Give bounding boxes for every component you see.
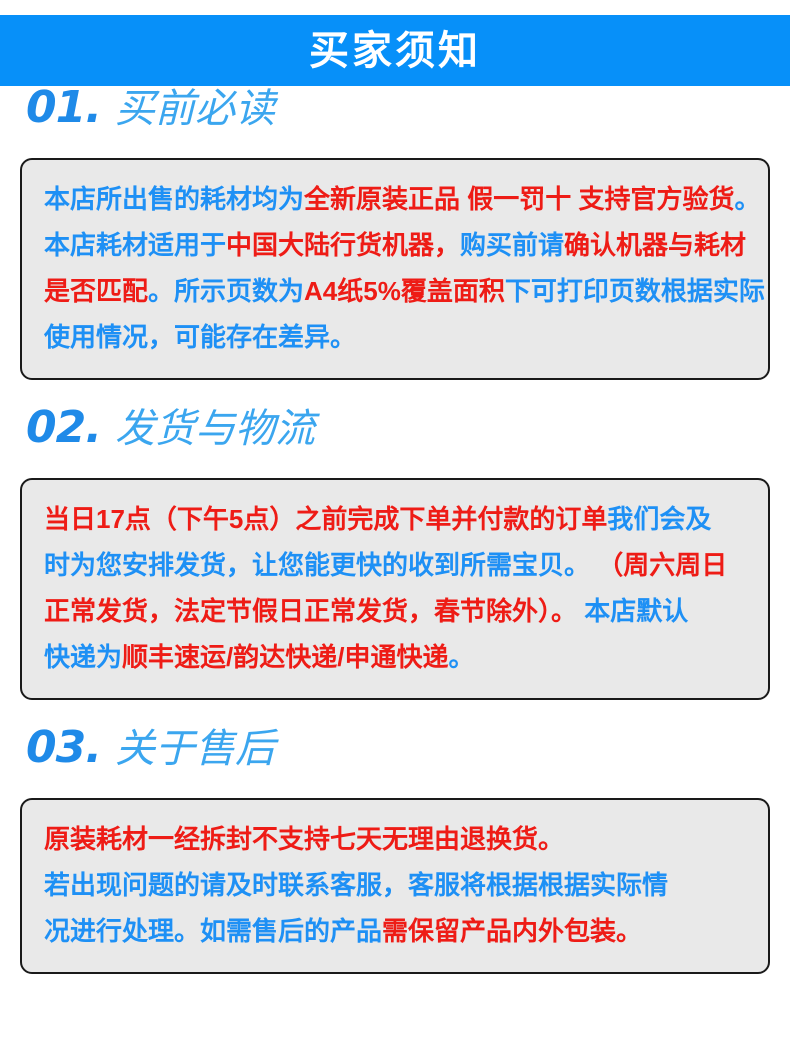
text-segment-blue: 使用情况，可能存在差异。 — [44, 322, 356, 352]
text-segment-blue: 下可打印页数根据实际 — [505, 276, 765, 306]
note-line: 当日17点（下午5点）之前完成下单并付款的订单我们会及 — [44, 496, 746, 542]
notice-sections: 01.买前必读本店所出售的耗材均为全新原装正品 假一罚十 支持官方验货。本店耗材… — [0, 86, 790, 974]
text-segment-red: 顺丰速运/韵达快递/申通快递 — [122, 642, 448, 672]
note-line: 正常发货，法定节假日正常发货，春节除外）。 本店默认 — [44, 588, 746, 634]
text-segment-red: 中国大陆行货机器， — [226, 230, 460, 260]
note-line: 若出现问题的请及时联系客服，客服将根据根据实际情 — [44, 862, 746, 908]
note-line: 况进行处理。如需售后的产品需保留产品内外包装。 — [44, 908, 746, 954]
text-segment-blue: 快递为 — [44, 642, 122, 672]
section-title-1: 买前必读 — [115, 89, 275, 129]
text-segment-blue: 。 — [734, 184, 760, 214]
page-header-banner: 买家须知 — [0, 15, 790, 86]
section-number-2: 02. — [26, 406, 101, 450]
text-segment-blue: 况进行处理。如需售后的产品 — [44, 916, 382, 946]
text-segment-red: 原装耗材一经拆封不支持七天无理由退换货。 — [44, 824, 564, 854]
text-segment-blue: 本店默认 — [577, 596, 688, 626]
note-box-3: 原装耗材一经拆封不支持七天无理由退换货。若出现问题的请及时联系客服，客服将根据根… — [20, 798, 770, 974]
section-spacer — [0, 380, 790, 406]
note-line: 本店耗材适用于中国大陆行货机器，购买前请确认机器与耗材 — [44, 222, 746, 268]
section-spacer — [0, 700, 790, 726]
text-segment-red: 是否匹配 — [44, 276, 148, 306]
text-segment-blue: 若出现问题的请及时联系客服，客服将根据根据实际情 — [44, 870, 668, 900]
text-segment-red: 当日17点（下午5点）之前完成下单并付款的订单 — [44, 504, 607, 534]
page-title: 买家须知 — [309, 31, 481, 71]
text-segment-blue: 本店耗材适用于 — [44, 230, 226, 260]
text-segment-blue: 时为您安排发货，让您能更快的收到所需宝贝。 — [44, 550, 590, 580]
section-heading-2: 02.发货与物流 — [0, 406, 790, 478]
text-segment-blue: 。 — [448, 642, 474, 672]
text-segment-red: 正常发货，法定节假日正常发货，春节除外）。 — [44, 596, 577, 626]
text-segment-red: A4纸5%覆盖面积 — [304, 276, 505, 306]
note-box-2: 当日17点（下午5点）之前完成下单并付款的订单我们会及时为您安排发货，让您能更快… — [20, 478, 770, 700]
text-segment-blue: 。所示页数为 — [148, 276, 304, 306]
section-number-3: 03. — [26, 726, 101, 770]
note-line: 是否匹配。所示页数为A4纸5%覆盖面积下可打印页数根据实际 — [44, 268, 746, 314]
text-segment-red: 需保留产品内外包装。 — [382, 916, 642, 946]
note-line: 时为您安排发货，让您能更快的收到所需宝贝。 （周六周日 — [44, 542, 746, 588]
note-box-1: 本店所出售的耗材均为全新原装正品 假一罚十 支持官方验货。本店耗材适用于中国大陆… — [20, 158, 770, 380]
note-line: 使用情况，可能存在差异。 — [44, 314, 746, 360]
text-segment-blue: 购买前请 — [460, 230, 564, 260]
note-line: 快递为顺丰速运/韵达快递/申通快递。 — [44, 634, 746, 680]
text-segment-red: 确认机器与耗材 — [564, 230, 746, 260]
section-number-1: 01. — [26, 86, 101, 130]
text-segment-red: （周六周日 — [590, 550, 727, 580]
text-segment-blue: 我们会及 — [607, 504, 711, 534]
text-segment-red: 全新原装正品 假一罚十 支持官方验货 — [304, 184, 734, 214]
note-line: 原装耗材一经拆封不支持七天无理由退换货。 — [44, 816, 746, 862]
section-heading-1: 01.买前必读 — [0, 86, 790, 158]
note-line: 本店所出售的耗材均为全新原装正品 假一罚十 支持官方验货。 — [44, 176, 746, 222]
section-heading-3: 03.关于售后 — [0, 726, 790, 798]
section-title-3: 关于售后 — [115, 729, 275, 769]
text-segment-blue: 本店所出售的耗材均为 — [44, 184, 304, 214]
section-title-2: 发货与物流 — [115, 409, 315, 449]
